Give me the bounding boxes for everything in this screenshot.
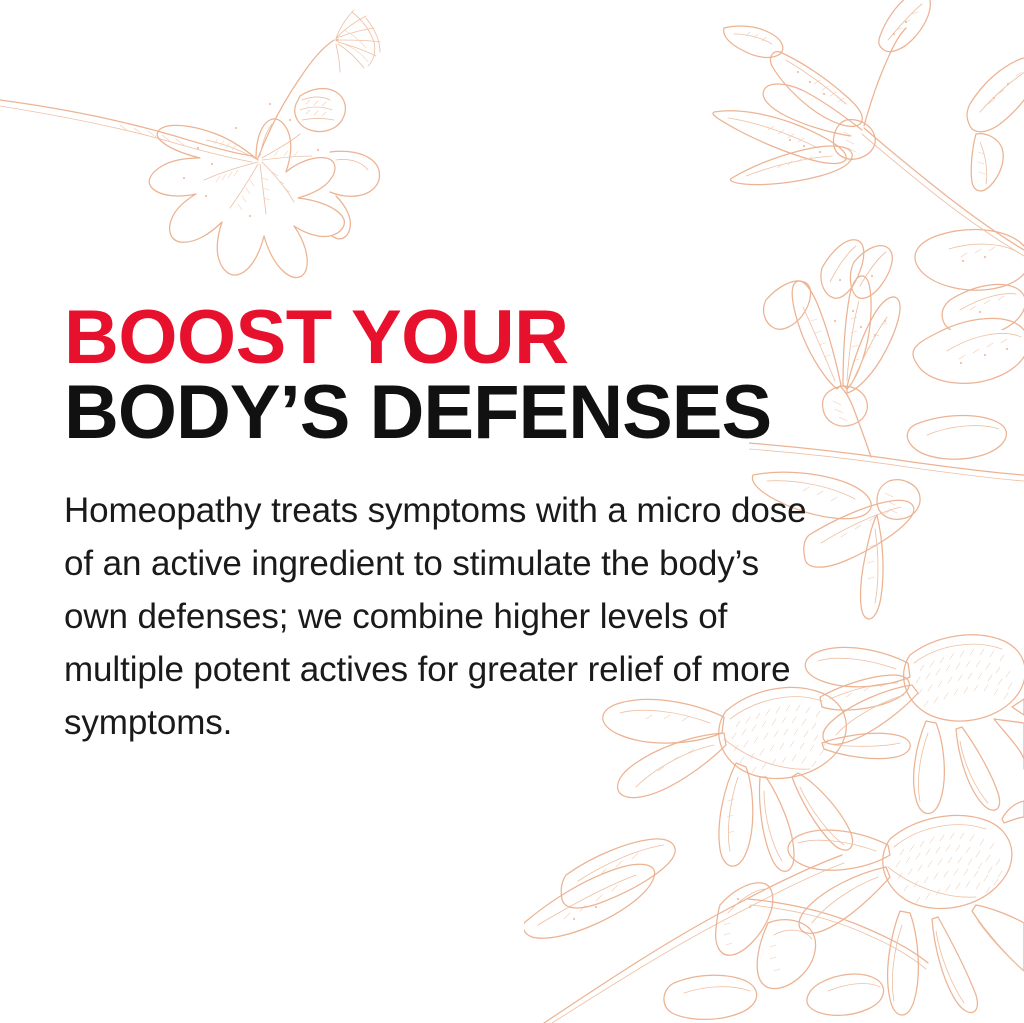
headline-line-1: BOOST YOUR: [64, 300, 824, 375]
page-title: BOOST YOUR BODY’S DEFENSES: [64, 300, 824, 450]
body-paragraph: Homeopathy treats symptoms with a micro …: [64, 450, 809, 749]
promo-canvas: BOOST YOUR BODY’S DEFENSES Homeopathy tr…: [0, 0, 1024, 1023]
petal-cluster-top-right-decoration: [694, 0, 1024, 330]
maple-leaf-sprig-decoration: [0, 0, 460, 310]
headline-line-2: BODY’S DEFENSES: [64, 375, 824, 450]
text-content-block: BOOST YOUR BODY’S DEFENSES Homeopathy tr…: [64, 300, 824, 749]
